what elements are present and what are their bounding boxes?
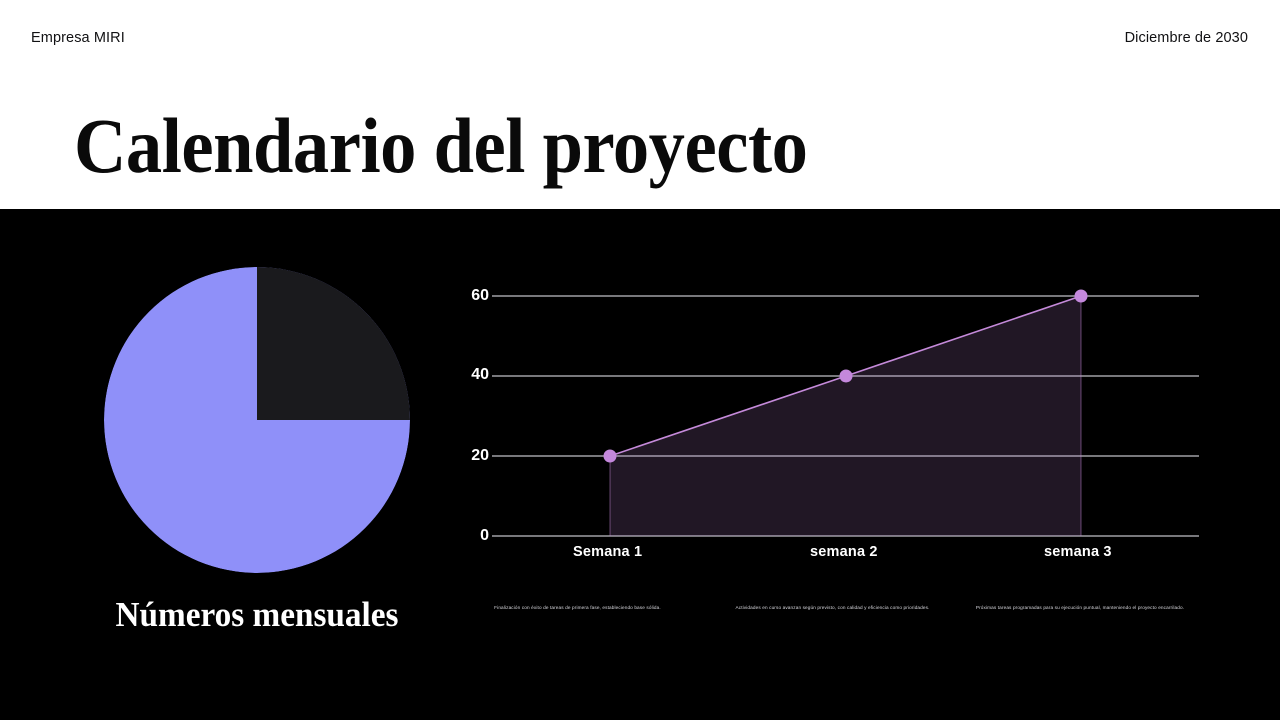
- x-label-semana-2: semana 2: [810, 544, 878, 560]
- line-chart-svg: [455, 269, 1215, 569]
- company-name: Empresa MIRI: [31, 30, 125, 46]
- y-tick-0: 0: [455, 527, 489, 545]
- note-semana-3: Próximas tareas programadas para su ejec…: [942, 604, 1217, 611]
- pie-chart-caption: Números mensuales: [95, 595, 420, 635]
- y-tick-20: 20: [455, 447, 489, 465]
- pie-chart: [104, 267, 410, 573]
- y-tick-40: 40: [455, 366, 489, 384]
- data-point-semana-3[interactable]: [1075, 290, 1088, 303]
- chart-notes: Finalización con éxito de tareas de prim…: [455, 604, 1215, 644]
- header-band: Empresa MIRI Diciembre de 2030 Calendari…: [0, 0, 1280, 209]
- meta-row: Empresa MIRI Diciembre de 2030: [0, 0, 1280, 78]
- line-chart: 60 40 20 0 Semana 1 semana 2 semana 3: [455, 269, 1215, 569]
- note-semana-1: Finalización con éxito de tareas de prim…: [463, 604, 693, 611]
- y-tick-60: 60: [455, 287, 489, 305]
- area-fill: [610, 296, 1081, 536]
- x-label-semana-3: semana 3: [1044, 544, 1112, 560]
- pie-svg: [104, 267, 410, 573]
- page-title: Calendario del proyecto: [74, 105, 807, 187]
- pie-graphic: [104, 267, 410, 573]
- data-point-semana-2[interactable]: [840, 370, 853, 383]
- note-semana-2: Actividades en curso avanzan según previ…: [697, 604, 967, 611]
- slide-date: Diciembre de 2030: [1125, 30, 1248, 46]
- data-point-semana-1[interactable]: [604, 450, 617, 463]
- pie-slice-restante: [257, 267, 410, 420]
- slide-body: Números mensuales 60 40 20 0 Sema: [0, 209, 1280, 720]
- x-label-semana-1: Semana 1: [573, 544, 642, 560]
